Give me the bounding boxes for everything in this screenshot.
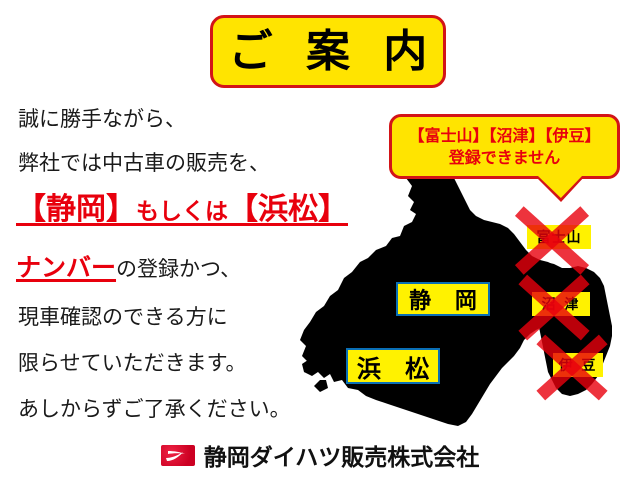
banner-title: ご 案 内: [220, 30, 437, 74]
daihatsu-logo-icon: [161, 445, 195, 466]
footer: 静岡ダイハツ販売株式会社: [0, 438, 640, 472]
notice-poster: ご 案 内 誠に勝手ながら、 弊社では中古車の販売を、 【静岡】もしくは【浜松】…: [0, 0, 640, 480]
notice-line-7: あしからずご了承ください。: [18, 399, 291, 420]
notice-line-4: ナンバーの登録かつ、: [16, 255, 241, 280]
notice-line-1: 誠に勝手ながら、: [18, 109, 186, 130]
title-banner: ご 案 内: [210, 15, 446, 88]
notice-line-2: 弊社では中古車の販売を、: [18, 153, 270, 174]
callout-line-1: 【富士山】【沼津】【伊豆】: [408, 125, 600, 147]
emphasis-number: ナンバー: [16, 253, 116, 282]
map-label-hamamatsu: 浜 松: [346, 348, 440, 384]
notice-line-3: 【静岡】もしくは【浜松】: [16, 195, 348, 225]
map-label-fujisan: 富士山: [527, 225, 591, 249]
company-name: 静岡ダイハツ販売株式会社: [204, 438, 480, 472]
emphasis-shizuoka: 【静岡】もしくは【浜松】: [16, 192, 348, 227]
callout-bubble: 【富士山】【沼津】【伊豆】 登録できません: [389, 114, 620, 179]
map-label-shizuoka: 静 岡: [396, 282, 490, 316]
notice-line-4-rest: の登録かつ、: [116, 257, 241, 281]
callout-line-2: 登録できません: [449, 147, 561, 169]
notice-line-6: 限らせていただきます。: [18, 353, 246, 374]
map-label-numazu: 沼 津: [532, 292, 590, 316]
notice-line-5: 現車確認のできる方に: [18, 307, 228, 328]
map-label-izu: 伊 豆: [553, 353, 603, 377]
